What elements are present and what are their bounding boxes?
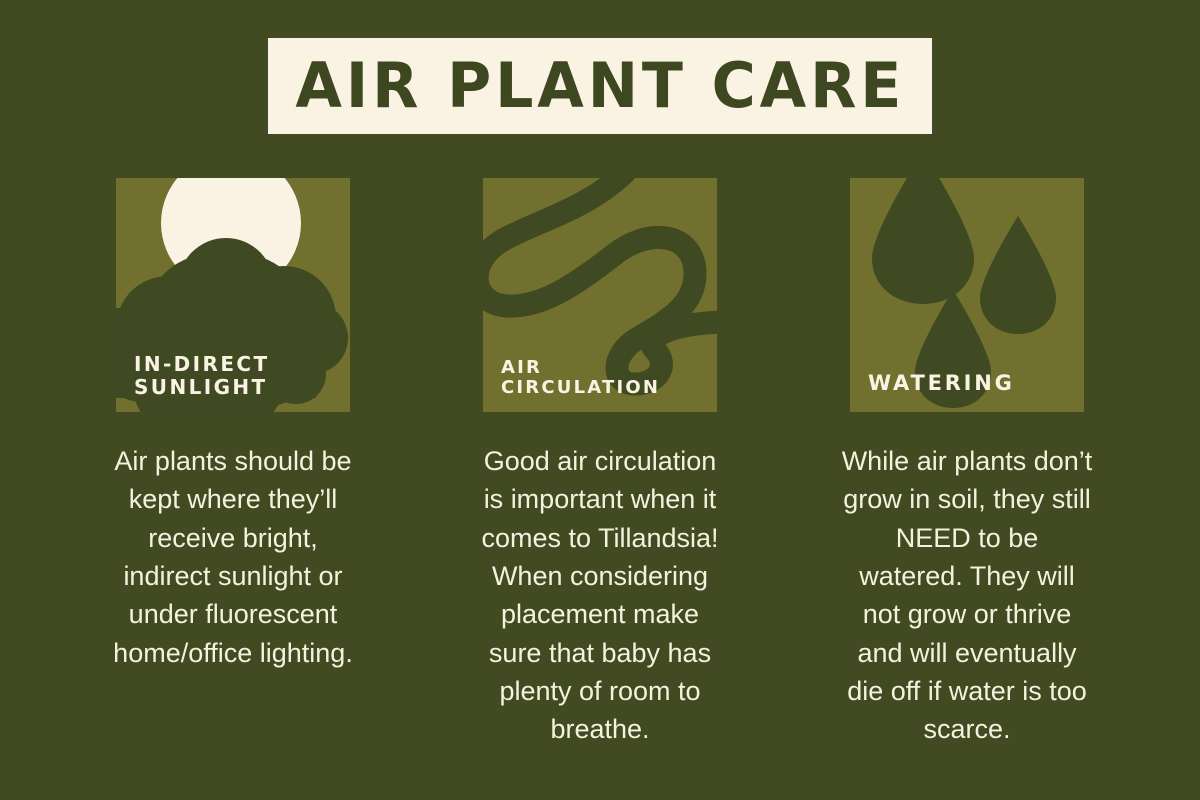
card-body-circulation: Good air circulation is important when i… bbox=[474, 442, 726, 749]
title-banner: AIR PLANT CARE bbox=[268, 38, 932, 134]
care-card-watering: WATERING While air plants don’t grow in … bbox=[850, 178, 1084, 749]
icon-tile-circulation: AIR CIRCULATION bbox=[483, 178, 717, 412]
card-body-sunlight: Air plants should be kept where they’ll … bbox=[107, 442, 359, 672]
icon-tile-watering: WATERING bbox=[850, 178, 1084, 412]
care-card-circulation: AIR CIRCULATION Good air circulation is … bbox=[483, 178, 717, 749]
tile-label-sunlight: IN-DIRECT SUNLIGHT bbox=[134, 353, 270, 398]
care-cards-row: IN-DIRECT SUNLIGHT Air plants should be … bbox=[0, 178, 1200, 749]
tile-label-circulation: AIR CIRCULATION bbox=[501, 358, 660, 398]
card-body-watering: While air plants don’t grow in soil, the… bbox=[841, 442, 1093, 749]
page-title: AIR PLANT CARE bbox=[295, 55, 905, 117]
care-card-sunlight: IN-DIRECT SUNLIGHT Air plants should be … bbox=[116, 178, 350, 749]
icon-tile-sunlight: IN-DIRECT SUNLIGHT bbox=[116, 178, 350, 412]
air-plant-care-poster: AIR PLANT CARE bbox=[0, 0, 1200, 800]
tile-label-watering: WATERING bbox=[868, 372, 1015, 396]
